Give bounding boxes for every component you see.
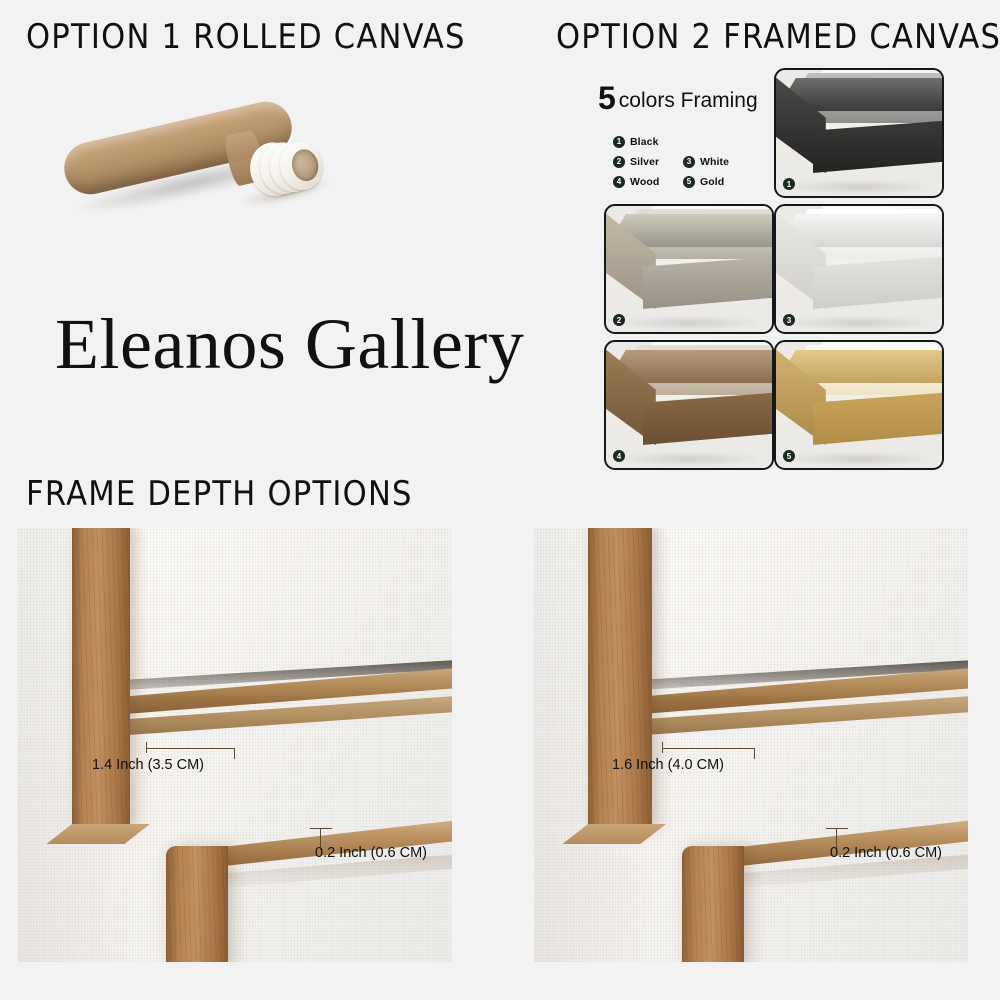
depth-panel-right	[534, 528, 968, 962]
legend-label: Wood	[630, 176, 659, 188]
frame-shadow	[783, 453, 936, 466]
frame-shadow	[613, 317, 766, 330]
badge-5-icon: 5	[683, 176, 695, 188]
badge-1-icon: 1	[613, 136, 625, 148]
framing-colors-count: 5	[598, 80, 616, 116]
framing-colors-legend: 1 Black 2 Silver 3 White 4 Wood 5 Gold	[613, 136, 763, 188]
depth-panel-left	[18, 528, 452, 962]
dim-tick-right-a	[662, 742, 663, 753]
dimension-frame-depth-left: 1.4 Inch (3.5 CM)	[92, 757, 204, 773]
frame-vertical-post	[72, 528, 130, 829]
legend-item-wood: 4 Wood	[613, 176, 683, 188]
badge-4-icon: 4	[613, 176, 625, 188]
frame-lower-post	[166, 846, 228, 962]
legend-item-silver: 2 Silver	[613, 156, 683, 168]
badge-2-icon: 2	[613, 156, 625, 168]
legend-item-black: 1 Black	[613, 136, 753, 148]
frame-shadow	[783, 181, 936, 194]
badge-3-icon: 3	[683, 156, 695, 168]
dimension-face-width-right: 0.2 Inch (0.6 CM)	[830, 845, 942, 861]
dim-tick-left-b	[234, 748, 235, 759]
frame-swatch-number: 1	[783, 178, 795, 190]
dimension-face-width-left: 0.2 Inch (0.6 CM)	[315, 845, 427, 861]
frame-depth-heading: FRAME DEPTH OPTIONS	[26, 475, 413, 514]
legend-item-gold: 5 Gold	[683, 176, 753, 188]
frame-shadow	[613, 453, 766, 466]
framing-colors-label: colors Framing	[619, 89, 758, 112]
frame-shadow	[783, 317, 936, 330]
legend-label: Gold	[700, 176, 724, 188]
brand-wordmark: Eleanos Gallery	[55, 303, 524, 386]
dim-tick-left-c	[310, 828, 332, 829]
dim-line-depth-right	[662, 748, 754, 749]
frame-lower-post	[682, 846, 744, 962]
frame-swatch-silver[interactable]: 2	[604, 204, 774, 334]
frame-vertical-post	[588, 528, 652, 829]
option-2-heading: OPTION 2 FRAMED CANVAS	[556, 18, 1000, 57]
frame-swatch-white[interactable]: 3	[774, 204, 944, 334]
frame-swatch-number: 4	[613, 450, 625, 462]
dim-tick-right-c	[826, 828, 848, 829]
frame-swatch-number: 5	[783, 450, 795, 462]
legend-item-white: 3 White	[683, 156, 753, 168]
legend-label: Silver	[630, 156, 659, 168]
legend-label: White	[700, 156, 729, 168]
frame-swatch-gold[interactable]: 5	[774, 340, 944, 470]
framing-colors-title: 5colors Framing	[598, 82, 758, 114]
dimension-frame-depth-right: 1.6 Inch (4.0 CM)	[612, 757, 724, 773]
dim-line-depth-left	[146, 748, 234, 749]
frame-swatch-number: 2	[613, 314, 625, 326]
infographic-canvas: OPTION 1 ROLLED CANVAS OPTION 2 FRAMED C…	[0, 0, 1000, 1000]
frame-swatch-black[interactable]: 1	[774, 68, 944, 198]
dim-tick-left-a	[146, 742, 147, 753]
frame-swatch-number: 3	[783, 314, 795, 326]
option-1-heading: OPTION 1 ROLLED CANVAS	[26, 18, 466, 57]
legend-label: Black	[630, 136, 659, 148]
frame-swatch-wood[interactable]: 4	[604, 340, 774, 470]
dim-tick-right-b	[754, 748, 755, 759]
rolled-canvas-tube-icon	[52, 96, 352, 226]
